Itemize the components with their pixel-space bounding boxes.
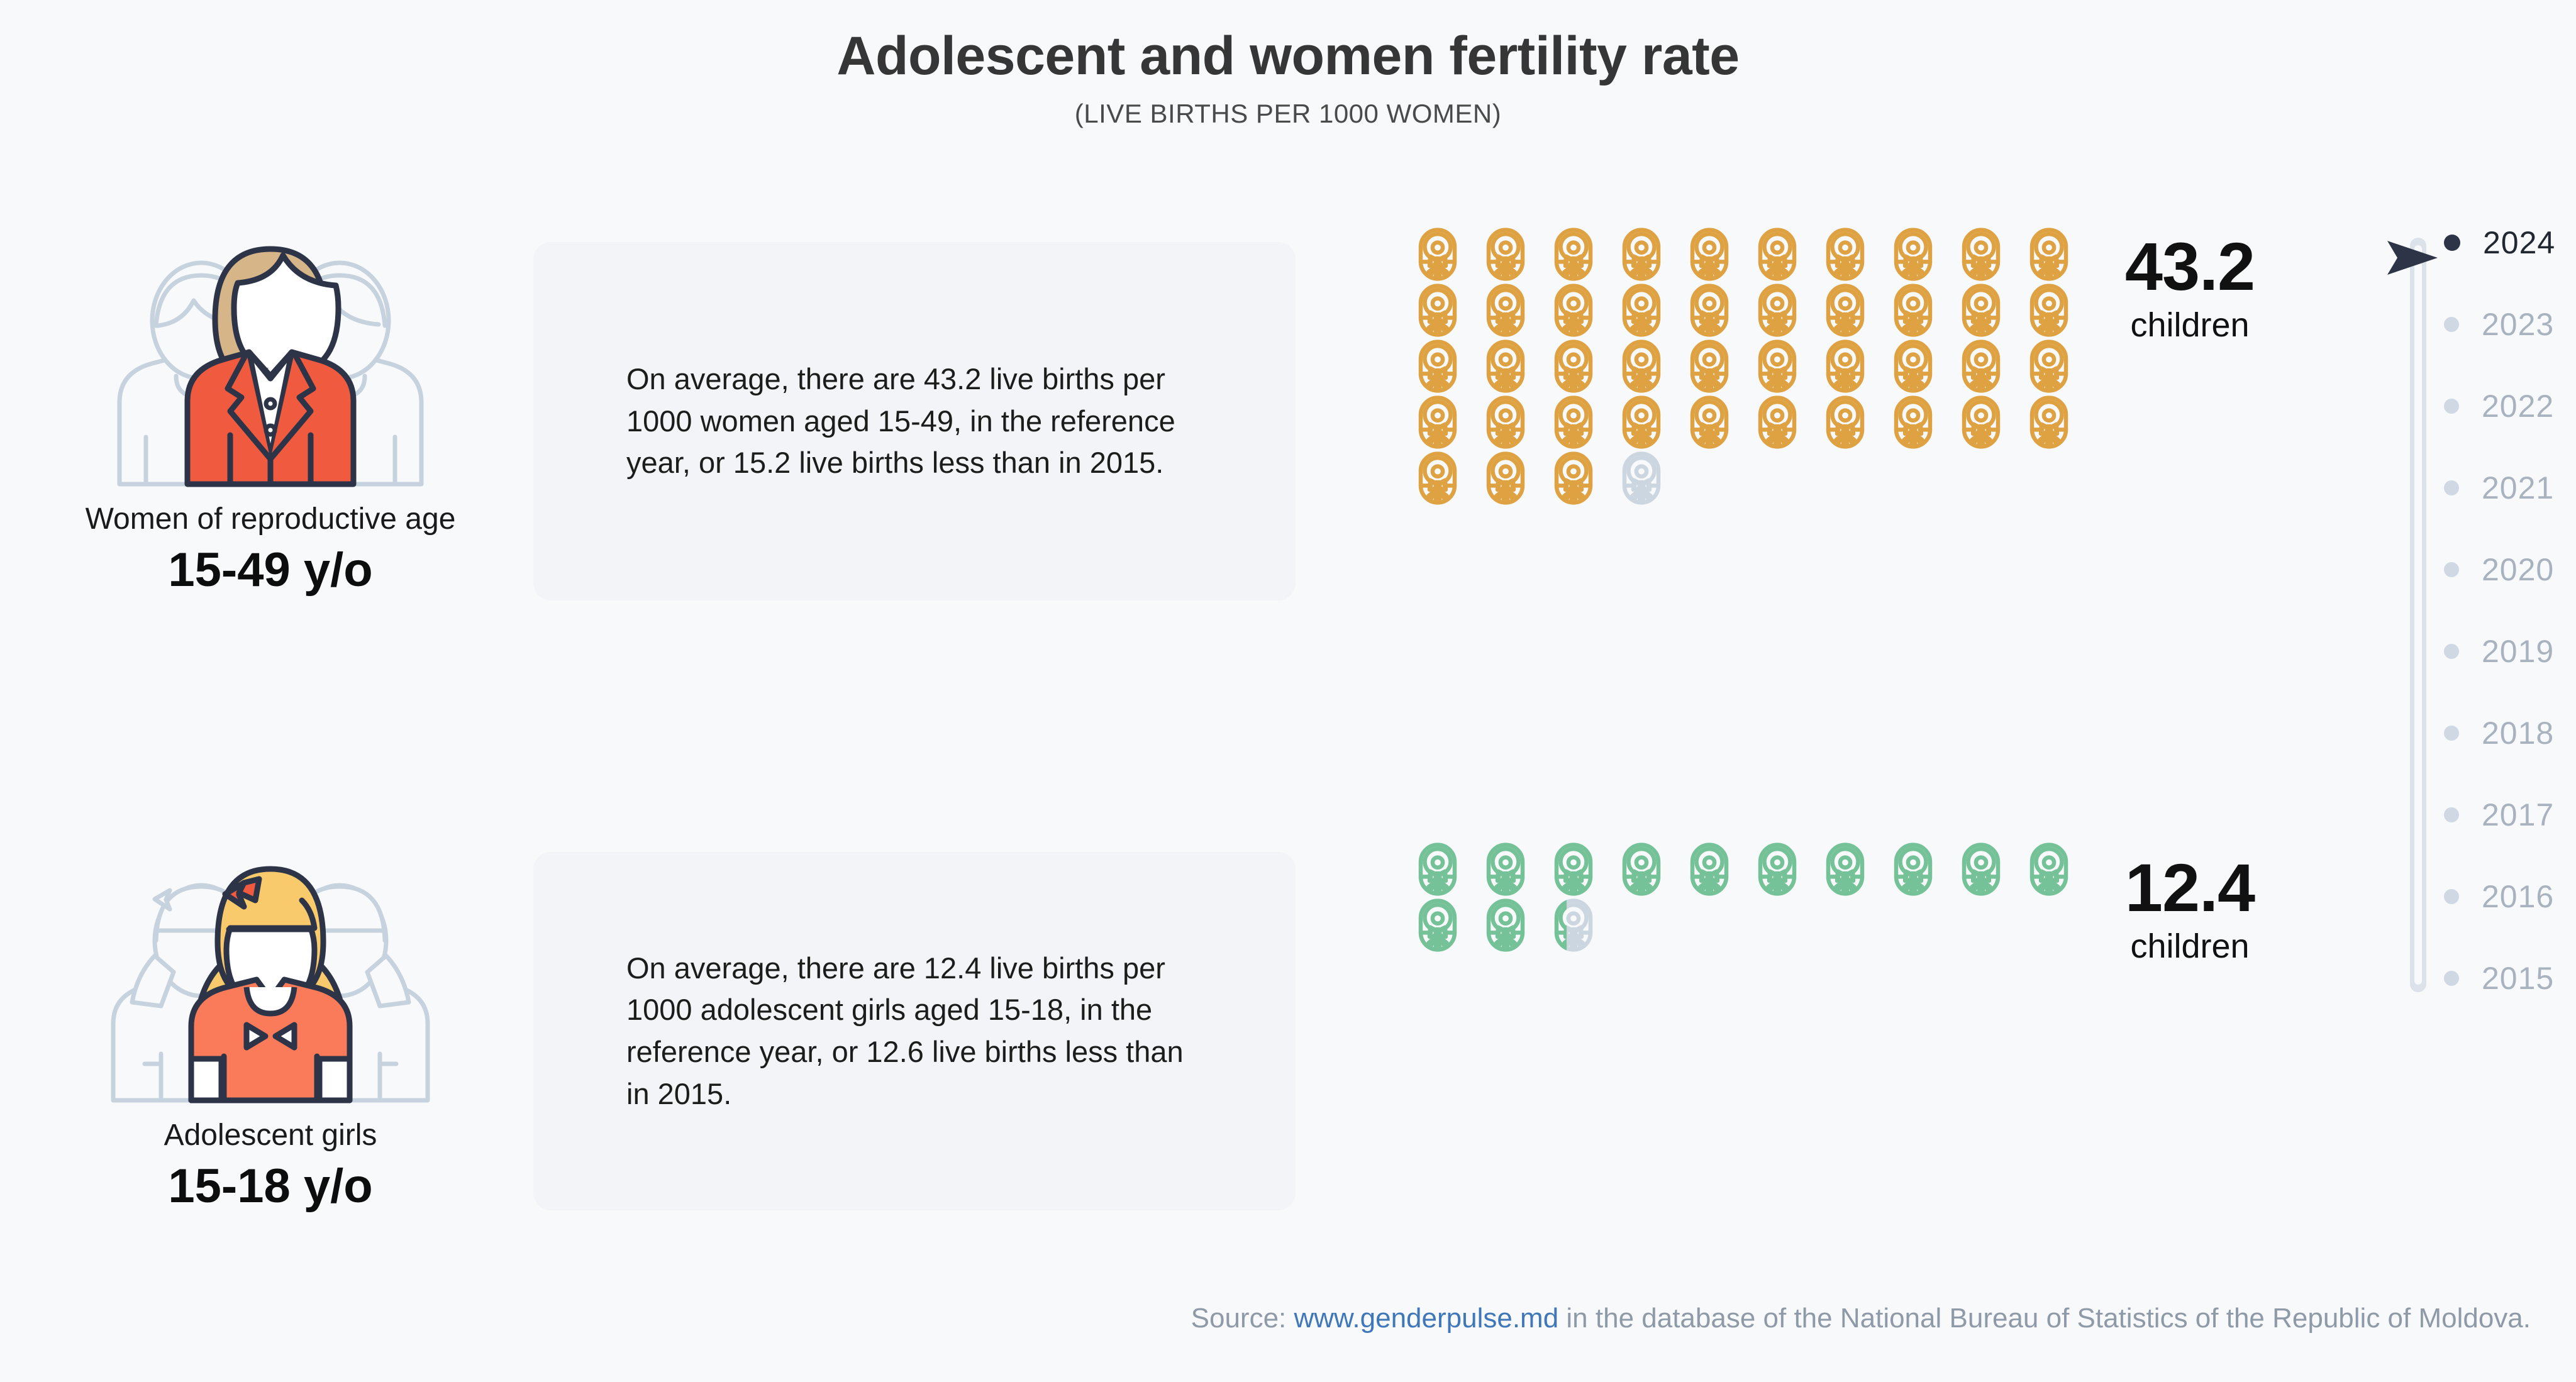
pictogram-icon-baby-full <box>1607 841 1675 897</box>
pictogram-icon-baby-full <box>1540 394 1607 450</box>
pictogram-icon-baby-full <box>1947 841 2015 897</box>
pictogram-icon-baby-full <box>1472 394 1540 450</box>
timeline-year-label: 2021 <box>2482 470 2554 506</box>
description-card-women: On average, there are 43.2 live births p… <box>533 242 1296 600</box>
value-number-women: 43.2 <box>2083 233 2297 301</box>
pictogram-icon-baby-full <box>1540 450 1607 506</box>
description-card-girls: On average, there are 12.4 live births p… <box>533 852 1296 1210</box>
pictogram-icon-baby-full <box>1404 282 1472 338</box>
pictogram-grid-women <box>1404 226 2102 506</box>
pictogram-icon-baby-full <box>1743 226 1811 282</box>
pictogram-icon-baby-full <box>1811 394 1879 450</box>
pictogram-icon-baby-full <box>1472 338 1540 394</box>
timeline-dot-icon <box>2444 971 2459 986</box>
pictogram-icon-baby-full <box>1811 282 1879 338</box>
pictogram-icon-baby-full <box>1404 450 1472 506</box>
description-text-women: On average, there are 43.2 live births p… <box>533 358 1296 484</box>
pictogram-icon-baby-full <box>2015 841 2083 897</box>
pictogram-icon-baby-full <box>2015 282 2083 338</box>
timeline-dot-icon <box>2444 726 2459 741</box>
timeline-year-label: 2019 <box>2482 633 2554 670</box>
timeline-item-2023[interactable]: 2023 <box>2444 306 2576 343</box>
pictogram-icon-baby-full <box>1675 226 1743 282</box>
source-suffix: in the database of the National Bureau o… <box>1558 1303 2531 1334</box>
pictogram-icon-baby-full <box>1879 338 1947 394</box>
timeline-year-label: 2020 <box>2482 551 2554 588</box>
timeline-arrow-icon <box>2384 236 2453 280</box>
persona-girls-label: Adolescent girls <box>13 1118 528 1153</box>
pictogram-icon-baby-full <box>1879 282 1947 338</box>
page-subtitle: (LIVE BIRTHS PER 1000 WOMEN) <box>0 99 2576 129</box>
pictogram-icon-baby-full <box>1811 841 1879 897</box>
pictogram-icon-baby-full <box>2015 226 2083 282</box>
pictogram-icon-baby-full <box>1404 394 1472 450</box>
pictogram-icon-baby-full <box>1607 394 1675 450</box>
pictogram-icon-baby-full <box>1811 338 1879 394</box>
timeline-item-2020[interactable]: 2020 <box>2444 551 2576 589</box>
pictogram-icon-baby-full <box>1743 394 1811 450</box>
pictogram-icon-baby-full <box>1743 338 1811 394</box>
source-line: Source: www.genderpulse.md in the databa… <box>0 1303 2576 1334</box>
pictogram-icon-baby-full <box>1540 226 1607 282</box>
pictogram-icon-baby-full <box>1404 226 1472 282</box>
pictogram-icon-baby-full <box>1472 282 1540 338</box>
timeline-item-2016[interactable]: 2016 <box>2444 878 2576 915</box>
pictogram-icon-baby-full <box>1879 226 1947 282</box>
pictogram-icon-baby-full <box>1743 841 1811 897</box>
pictogram-icon-baby-full <box>1607 282 1675 338</box>
pictogram-icon-baby-full <box>1675 338 1743 394</box>
timeline-item-2018[interactable]: 2018 <box>2444 714 2576 752</box>
pictogram-icon-baby-partial <box>1607 450 1675 506</box>
pictogram-icon-baby-full <box>1675 841 1743 897</box>
timeline-item-2019[interactable]: 2019 <box>2444 633 2576 670</box>
source-link[interactable]: www.genderpulse.md <box>1294 1303 1559 1334</box>
pictogram-icon-baby-full <box>2015 394 2083 450</box>
pictogram-icon-baby-full <box>1404 841 1472 897</box>
persona-girls-age: 15-18 y/o <box>13 1160 528 1213</box>
description-text-girls: On average, there are 12.4 live births p… <box>533 948 1296 1115</box>
header: Adolescent and women fertility rate (LIV… <box>0 26 2576 129</box>
pictogram-icon-baby-full <box>1947 226 2015 282</box>
pictogram-icon-baby-full <box>1404 338 1472 394</box>
timeline-year-label: 2018 <box>2482 715 2554 751</box>
timeline-item-2021[interactable]: 2021 <box>2444 469 2576 507</box>
pictogram-icon-baby-full <box>2015 338 2083 394</box>
timeline-dot-icon <box>2444 399 2459 414</box>
timeline-item-2017[interactable]: 2017 <box>2444 796 2576 834</box>
pictogram-icon-baby-full <box>1947 394 2015 450</box>
pictogram-icon-baby-full <box>1675 394 1743 450</box>
persona-women-age: 15-49 y/o <box>13 544 528 597</box>
timeline-year-label: 2023 <box>2482 306 2554 343</box>
timeline-dot-icon <box>2444 317 2459 332</box>
timeline-track-inner <box>2414 245 2422 985</box>
persona-women-label: Women of reproductive age <box>13 502 528 536</box>
timeline-year-label: 2016 <box>2482 878 2554 915</box>
pictogram-icon-baby-full <box>1540 841 1607 897</box>
three-women-illustration-icon <box>75 214 465 490</box>
timeline-year-label: 2022 <box>2482 388 2554 424</box>
timeline-item-2015[interactable]: 2015 <box>2444 959 2576 997</box>
pictogram-icon-baby-full <box>1404 897 1472 953</box>
three-girls-illustration-icon <box>75 830 465 1107</box>
year-timeline[interactable]: 2024202320222021202020192018201720162015 <box>2390 231 2572 1005</box>
timeline-dot-icon <box>2444 235 2460 251</box>
timeline-dot-icon <box>2444 644 2459 659</box>
pictogram-icon-baby-full <box>1472 897 1540 953</box>
value-readout-women: 43.2 children <box>2083 233 2297 342</box>
pictogram-icon-baby-full <box>1879 394 1947 450</box>
pictogram-icon-baby-full <box>1472 841 1540 897</box>
pictogram-icon-baby-full <box>1811 226 1879 282</box>
timeline-year-label: 2024 <box>2483 224 2555 261</box>
pictogram-icon-baby-full <box>1879 841 1947 897</box>
pictogram-icon-baby-full <box>1540 282 1607 338</box>
timeline-dot-icon <box>2444 807 2459 822</box>
timeline-dot-icon <box>2444 562 2459 577</box>
value-unit-women: children <box>2083 308 2297 342</box>
pictogram-icon-baby-full <box>1743 282 1811 338</box>
timeline-year-label: 2015 <box>2482 960 2554 997</box>
pictogram-icon-baby-full <box>1947 282 2015 338</box>
timeline-item-2022[interactable]: 2022 <box>2444 387 2576 425</box>
timeline-year-label: 2017 <box>2482 797 2554 833</box>
pictogram-icon-baby-full <box>1472 450 1540 506</box>
pictogram-grid-girls <box>1404 841 2102 953</box>
pictogram-icon-baby-full <box>1947 338 2015 394</box>
pictogram-icon-baby-partial <box>1540 897 1607 953</box>
pictogram-icon-baby-full <box>1472 226 1540 282</box>
persona-women: Women of reproductive age 15-49 y/o <box>13 214 528 597</box>
timeline-dot-icon <box>2444 480 2459 495</box>
infographic-page: Adolescent and women fertility rate (LIV… <box>0 0 2576 1382</box>
value-number-girls: 12.4 <box>2083 854 2297 922</box>
timeline-item-2024[interactable]: 2024 <box>2444 224 2576 262</box>
source-prefix: Source: <box>1191 1303 1294 1334</box>
page-title: Adolescent and women fertility rate <box>0 26 2576 86</box>
persona-girls: Adolescent girls 15-18 y/o <box>13 830 528 1213</box>
pictogram-icon-baby-full <box>1675 282 1743 338</box>
pictogram-icon-baby-full <box>1607 338 1675 394</box>
pictogram-icon-baby-full <box>1540 338 1607 394</box>
value-readout-girls: 12.4 children <box>2083 854 2297 963</box>
timeline-dot-icon <box>2444 889 2459 904</box>
pictogram-icon-baby-full <box>1607 226 1675 282</box>
value-unit-girls: children <box>2083 929 2297 963</box>
